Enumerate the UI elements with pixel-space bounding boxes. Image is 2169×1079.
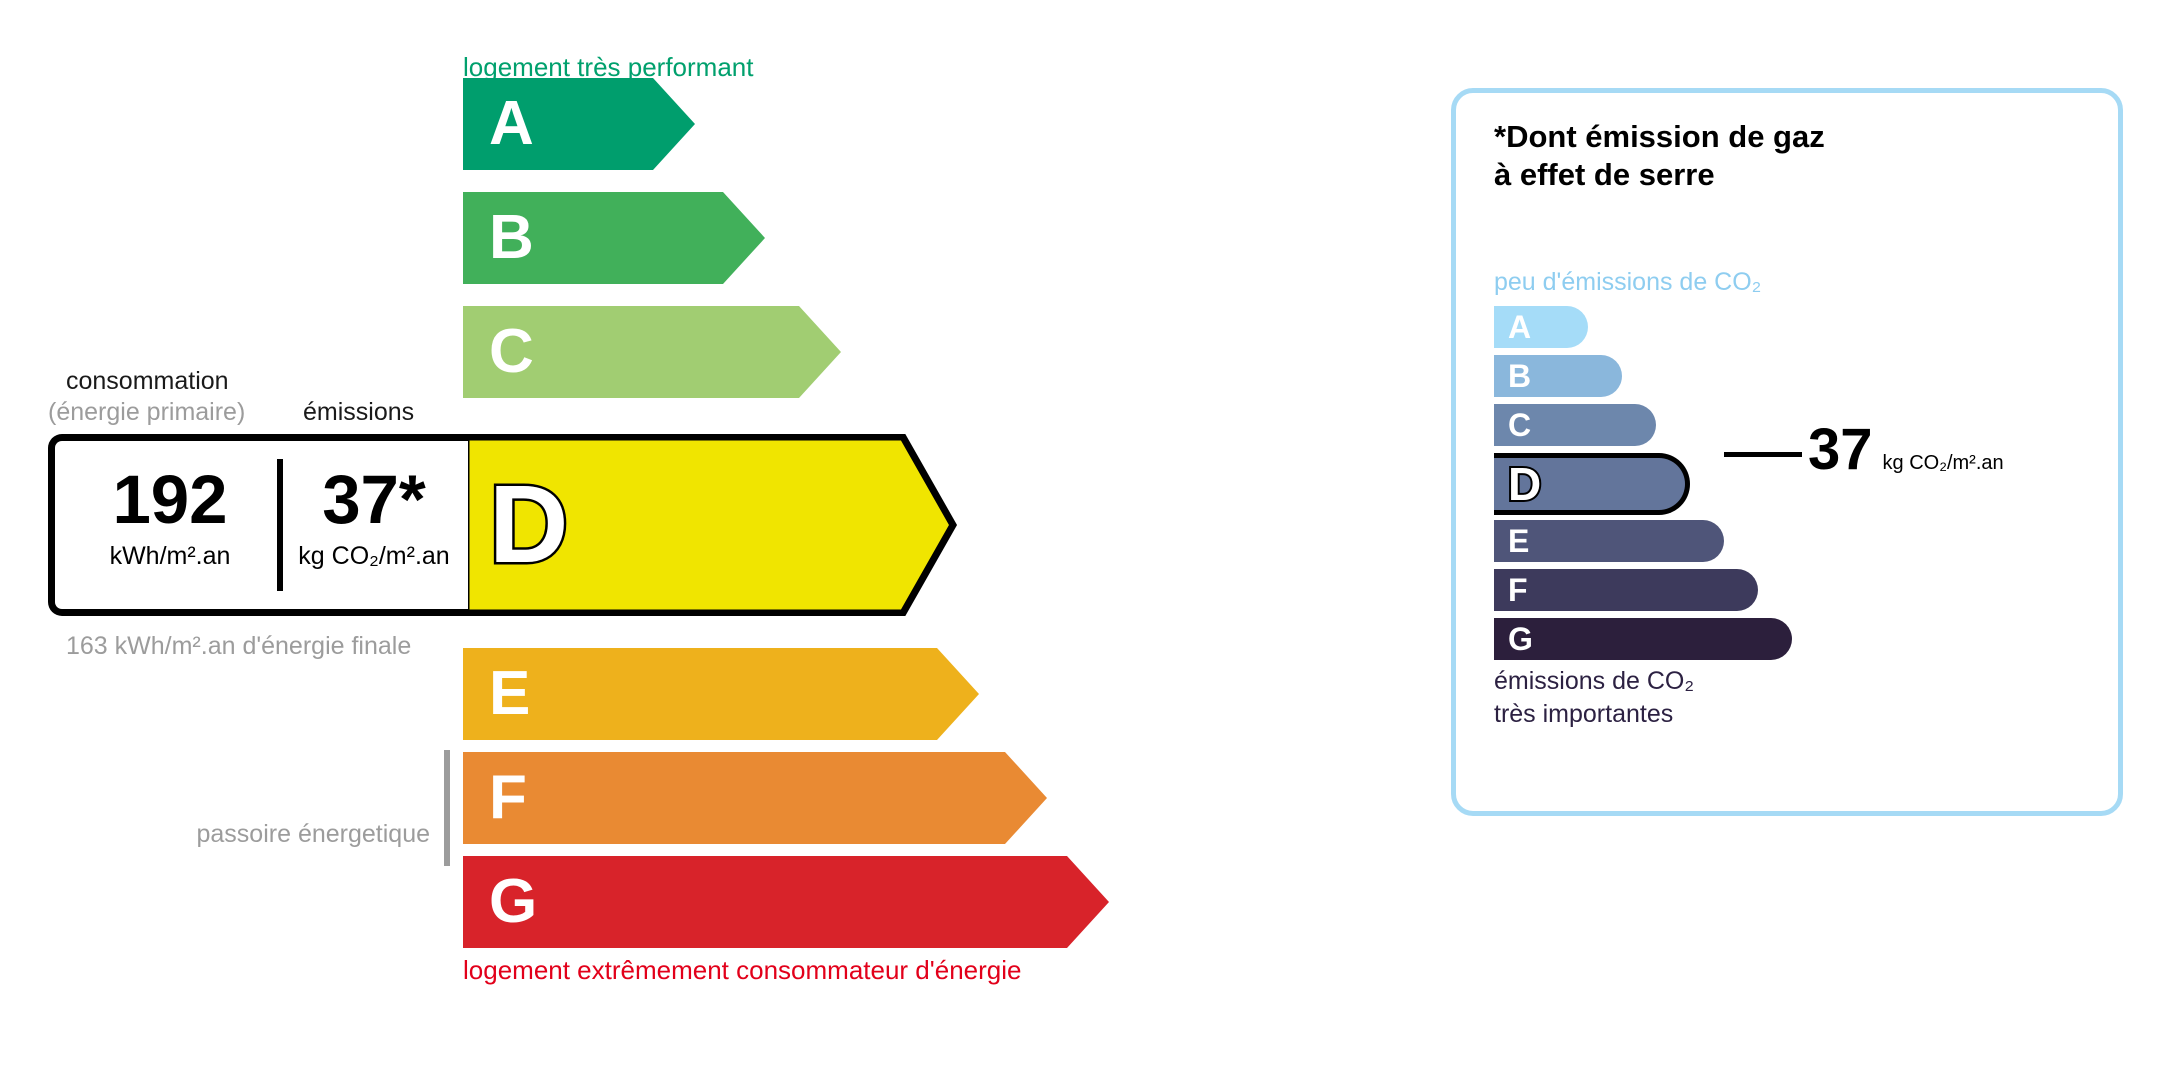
co2-bar-E: E <box>1494 520 1724 562</box>
energy-band-letter-D: D <box>489 470 568 580</box>
energy-performance-chart: logement très performant A B C D E <box>0 0 1400 1079</box>
energy-band-A: A <box>463 78 695 170</box>
energy-value-box: 192 kWh/m².an 37* kg CO₂/m².an <box>48 434 468 616</box>
co2-value-annotation: 37 kg CO₂/m².an <box>1808 421 2004 479</box>
label-energie-primaire: (énergie primaire) <box>48 398 245 427</box>
co2-annotation-value: 37 <box>1808 421 1873 479</box>
energy-band-F: F <box>463 752 1047 844</box>
energy-band-C: C <box>463 306 841 398</box>
energy-bottom-caption: logement extrêmement consommateur d'éner… <box>463 955 1021 986</box>
co2-value-cell: 37* kg CO₂/m².an <box>283 465 465 571</box>
co2-bar-letter-C: C <box>1508 409 1531 441</box>
label-emissions: émissions <box>303 398 414 427</box>
energy-band-letter-G: G <box>489 871 537 933</box>
co2-annotation-unit: kg CO₂/m².an <box>1883 452 2004 475</box>
energy-band-letter-A: A <box>489 93 534 155</box>
energy-band-letter-F: F <box>489 767 527 829</box>
primary-energy-value: 192 <box>65 465 275 534</box>
energy-band-letter-C: C <box>489 321 534 383</box>
energy-band-E: E <box>463 648 979 740</box>
co2-bar-G: G <box>1494 618 1792 660</box>
band-arrow-shape-icon <box>463 752 1047 844</box>
energy-band-G: G <box>463 856 1109 948</box>
passoire-label: passoire énergetique <box>190 818 430 852</box>
co2-bar-letter-F: F <box>1508 574 1528 606</box>
co2-panel-title: *Dont émission de gaz à effet de serre <box>1494 118 1825 194</box>
co2-bar-F: F <box>1494 569 1758 611</box>
co2-unit: kg CO₂/m².an <box>283 542 465 571</box>
energy-band-letter-B: B <box>489 207 534 269</box>
co2-value: 37* <box>283 465 465 534</box>
primary-energy-value-cell: 192 kWh/m².an <box>65 465 275 571</box>
label-consommation: consommation <box>66 367 229 396</box>
energy-band-D: D <box>463 434 959 616</box>
co2-bottom-caption: émissions de CO₂ très importantes <box>1494 665 1694 731</box>
co2-bar-letter-A: A <box>1508 311 1531 343</box>
final-energy-note: 163 kWh/m².an d'énergie finale <box>66 630 411 664</box>
co2-emission-panel: *Dont émission de gaz à effet de serre p… <box>1451 88 2123 816</box>
co2-bar-A: A <box>1494 306 1588 348</box>
band-arrow-shape-icon <box>463 856 1109 948</box>
co2-bar-D: D <box>1494 453 1690 515</box>
co2-bar-letter-B: B <box>1508 360 1531 392</box>
energy-band-B: B <box>463 192 765 284</box>
co2-bar-B: B <box>1494 355 1622 397</box>
passoire-marker-bar <box>444 750 450 866</box>
energy-band-letter-E: E <box>489 663 530 725</box>
co2-bar-letter-D: D <box>1508 461 1541 507</box>
co2-bar-letter-G: G <box>1508 623 1533 655</box>
primary-energy-unit: kWh/m².an <box>65 542 275 571</box>
band-arrow-shape-icon <box>463 648 979 740</box>
co2-top-caption: peu d'émissions de CO₂ <box>1494 268 1761 297</box>
co2-bar-letter-E: E <box>1508 525 1529 557</box>
co2-bar-C: C <box>1494 404 1656 446</box>
co2-value-connector-line <box>1724 452 1802 457</box>
